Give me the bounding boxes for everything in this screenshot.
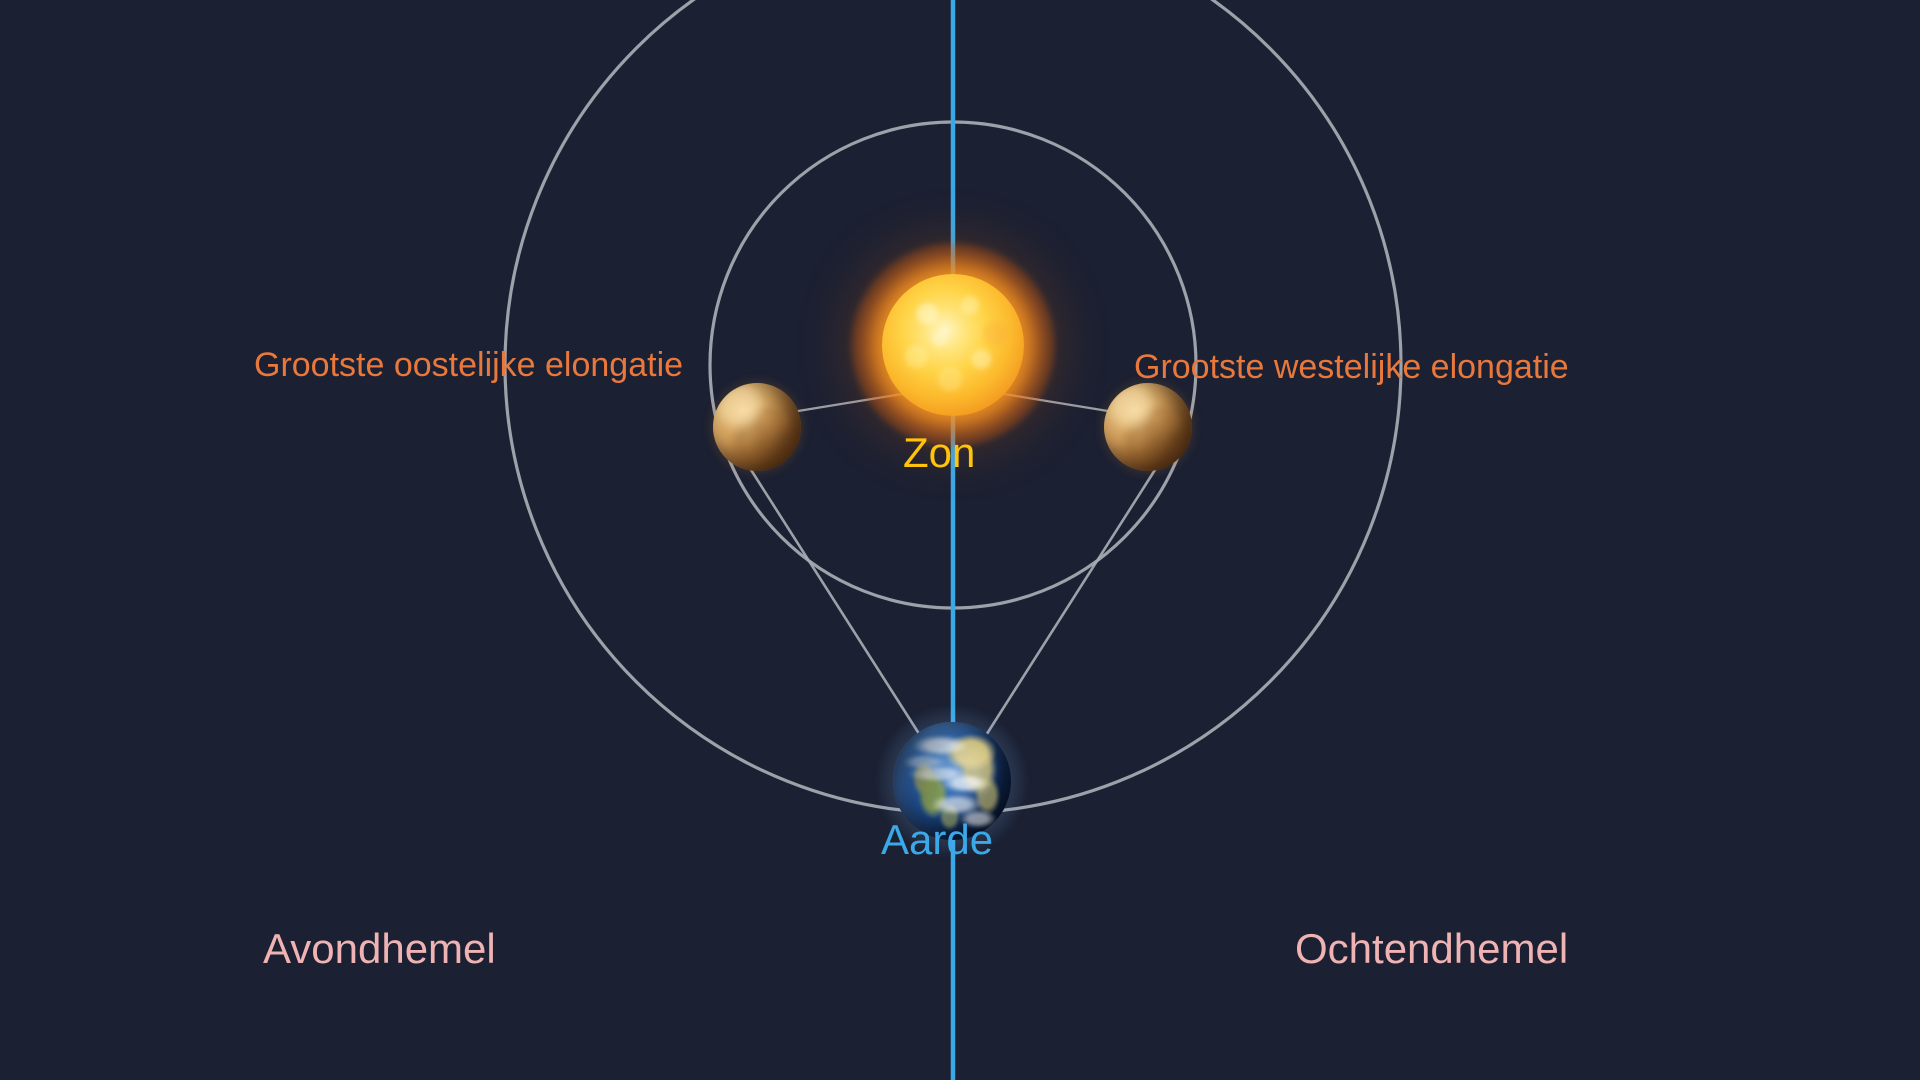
label-morning-sky: Ochtendhemel [1295, 928, 1568, 970]
label-greatest-eastern-elongation: Grootste oostelijke elongatie [254, 348, 683, 382]
sun-to-east-planet-line [792, 393, 908, 412]
inner-planet-west-body [1104, 383, 1192, 471]
diagram-canvas: Grootste oostelijke elongatie Grootste w… [0, 0, 1920, 1080]
sun-to-west-planet-line [998, 393, 1114, 412]
label-earth: Aarde [881, 819, 993, 861]
label-evening-sky: Avondhemel [263, 928, 496, 970]
orbit-diagram [0, 0, 1920, 1080]
label-greatest-western-elongation: Grootste westelijke elongatie [1134, 350, 1569, 384]
inner-planet-east-body [713, 383, 801, 471]
label-sun: Zon [903, 432, 975, 474]
